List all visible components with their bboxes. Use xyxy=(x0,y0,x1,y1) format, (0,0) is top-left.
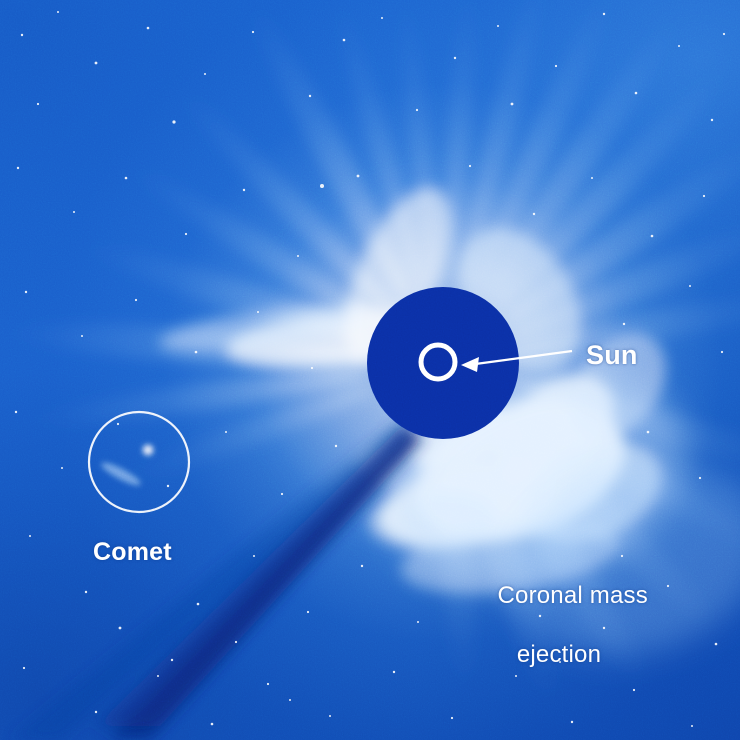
coronagraph-image: Sun Comet Coronal mass ejection xyxy=(0,0,740,740)
cme-label-line2: ejection xyxy=(470,640,648,669)
cme-label: Coronal mass ejection xyxy=(470,552,648,728)
cme-label-line1: Coronal mass xyxy=(497,582,647,609)
sun-label: Sun xyxy=(586,340,638,371)
comet-label: Comet xyxy=(93,538,172,567)
